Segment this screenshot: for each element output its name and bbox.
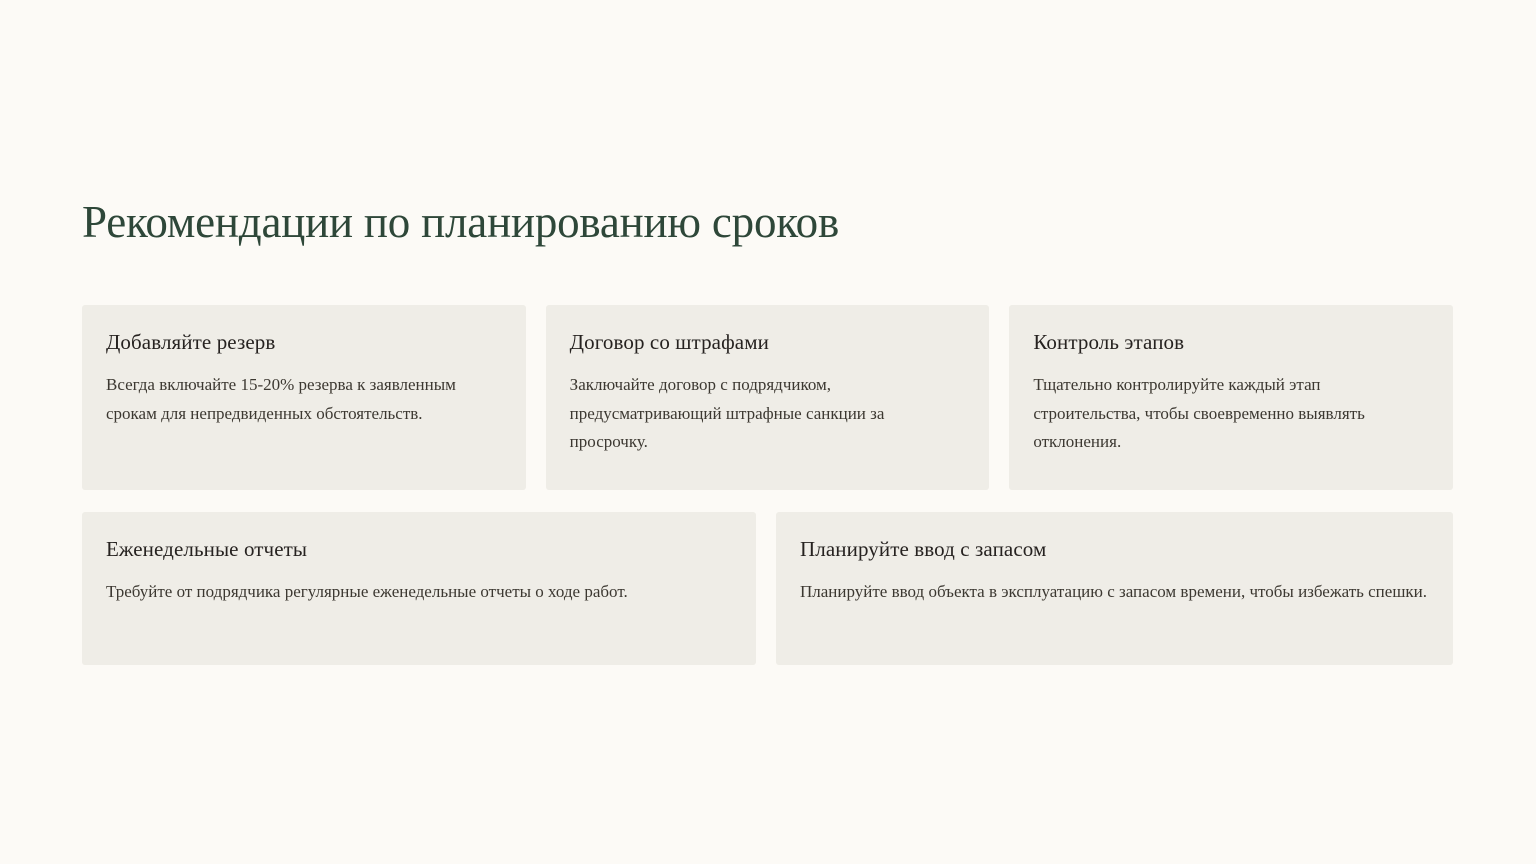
page-title: Рекомендации по планированию сроков [82, 196, 1462, 249]
recommendation-card[interactable]: Договор со штрафами Заключайте договор с… [546, 305, 990, 490]
recommendation-card[interactable]: Добавляйте резерв Всегда включайте 15-20… [82, 305, 526, 490]
card-heading: Планируйте ввод с запасом [800, 536, 1429, 562]
card-body: Планируйте ввод объекта в эксплуатацию с… [800, 578, 1429, 607]
card-heading: Договор со штрафами [570, 329, 966, 355]
recommendation-card[interactable]: Планируйте ввод с запасом Планируйте вво… [776, 512, 1453, 665]
card-body: Тщательно контролируйте каждый этап стро… [1033, 371, 1429, 457]
card-row-top: Добавляйте резерв Всегда включайте 15-20… [82, 305, 1453, 490]
card-heading: Добавляйте резерв [106, 329, 502, 355]
card-row-bottom: Еженедельные отчеты Требуйте от подрядчи… [82, 512, 1453, 665]
slide-root: Рекомендации по планированию сроков Доба… [0, 0, 1536, 864]
card-body: Заключайте договор с подрядчиком, предус… [570, 371, 966, 457]
card-body: Требуйте от подрядчика регулярные еженед… [106, 578, 732, 607]
recommendation-card[interactable]: Еженедельные отчеты Требуйте от подрядчи… [82, 512, 756, 665]
recommendation-card[interactable]: Контроль этапов Тщательно контролируйте … [1009, 305, 1453, 490]
recommendation-card-grid: Добавляйте резерв Всегда включайте 15-20… [82, 305, 1453, 665]
card-body: Всегда включайте 15-20% резерва к заявле… [106, 371, 502, 428]
card-heading: Контроль этапов [1033, 329, 1429, 355]
card-heading: Еженедельные отчеты [106, 536, 732, 562]
